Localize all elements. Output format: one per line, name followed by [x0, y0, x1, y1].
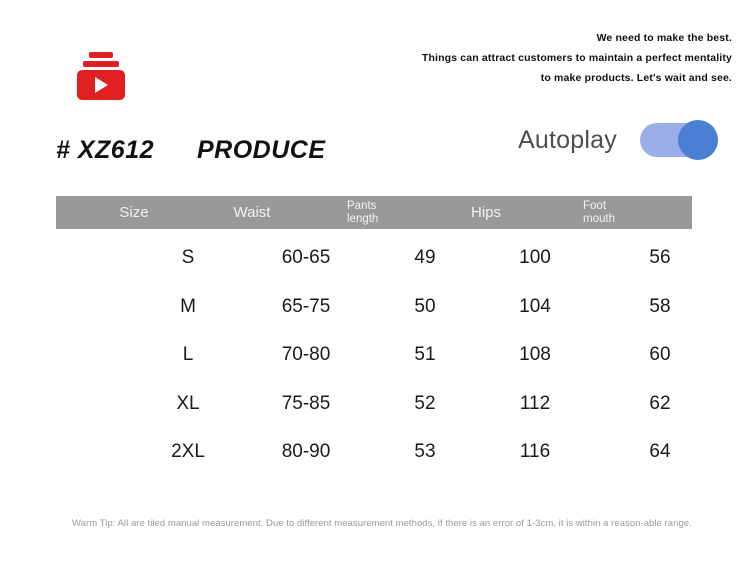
tagline-block: We need to make the best. Things can att…: [312, 28, 732, 88]
tagline-line-2: Things can attract customers to maintain…: [312, 48, 732, 68]
autoplay-toggle-knob[interactable]: [678, 120, 718, 160]
size-table: Size Waist Pants length Hips Foot mouth …: [56, 196, 692, 472]
column-header-pants-length: Pants length: [347, 196, 378, 226]
autoplay-label: Autoplay: [518, 126, 617, 155]
measurement-disclaimer: Warm Tip: All are tiled manual measureme…: [72, 516, 706, 531]
column-header-hips: Hips: [446, 203, 526, 223]
table-row: XL 75-85 52 112 62: [56, 375, 692, 424]
tagline-line-1: We need to make the best.: [312, 28, 732, 48]
title-row: # XZ612 PRODUCE: [56, 136, 456, 172]
autoplay-toggle[interactable]: [640, 123, 716, 157]
table-row: L 70-80 51 108 60: [56, 326, 692, 375]
cell-foot-mouth: 56: [554, 247, 750, 269]
logo-stack-bar-top: [89, 52, 113, 58]
cell-foot-mouth: 64: [554, 441, 750, 463]
table-row: M 65-75 50 104 58: [56, 278, 692, 327]
autoplay-control[interactable]: Autoplay: [518, 118, 716, 162]
cell-foot-mouth: 60: [554, 344, 750, 366]
column-header-foot-mouth: Foot mouth: [583, 196, 615, 226]
cell-foot-mouth: 62: [554, 393, 750, 415]
table-row: S 60-65 49 100 56: [56, 229, 692, 278]
table-row: 2XL 80-90 53 116 64: [56, 423, 692, 472]
play-triangle-icon: [95, 77, 108, 93]
table-header-row: Size Waist Pants length Hips Foot mouth: [56, 196, 692, 229]
cell-foot-mouth: 58: [554, 296, 750, 318]
size-chart-page: We need to make the best. Things can att…: [0, 0, 750, 574]
product-code: # XZ612: [56, 136, 154, 165]
brand-logo: [76, 52, 128, 102]
tagline-line-3: to make products. Let's wait and see.: [312, 68, 732, 88]
logo-stack-bar-middle: [83, 61, 119, 67]
column-header-size: Size: [56, 203, 212, 223]
page-title: PRODUCE: [197, 136, 326, 165]
column-header-waist: Waist: [212, 203, 292, 223]
table-body: S 60-65 49 100 56 M 65-75 50 104 58 L 70…: [56, 229, 692, 472]
